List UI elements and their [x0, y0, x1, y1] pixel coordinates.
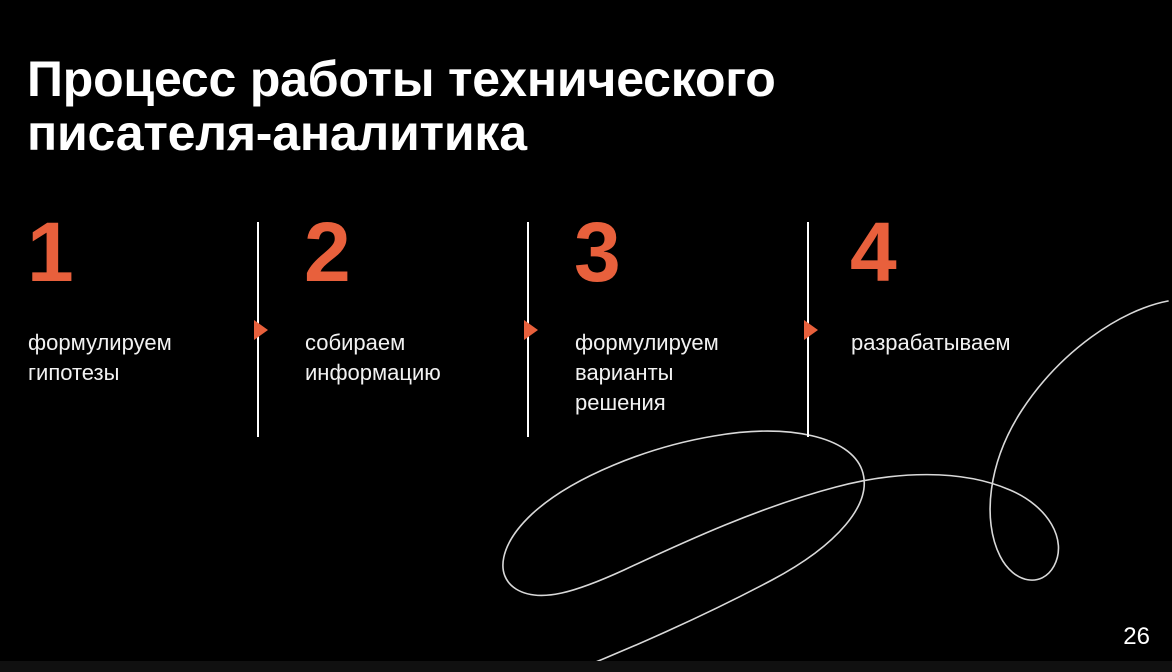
slide-canvas: Процесс работы технического писателя-ана…: [0, 0, 1172, 672]
step-number-2: 2: [304, 210, 350, 294]
process-steps: 1 формулируем гипотезы 2 собираем информ…: [0, 210, 1172, 450]
bottom-edge-strip: [0, 661, 1172, 672]
step-label-1: формулируем гипотезы: [28, 328, 233, 388]
step-number-1: 1: [27, 210, 73, 294]
arrow-right-icon-2: [524, 320, 538, 340]
step-label-2: собираем информацию: [305, 328, 510, 388]
arrow-right-icon-3: [804, 320, 818, 340]
step-number-4: 4: [850, 210, 896, 294]
arrow-right-icon-1: [254, 320, 268, 340]
page-number: 26: [1123, 624, 1150, 650]
step-label-3: формулируем варианты решения: [575, 328, 780, 418]
page-title: Процесс работы технического писателя-ана…: [27, 52, 967, 160]
step-number-3: 3: [574, 210, 620, 294]
step-label-4: разрабатываем: [851, 328, 1056, 358]
